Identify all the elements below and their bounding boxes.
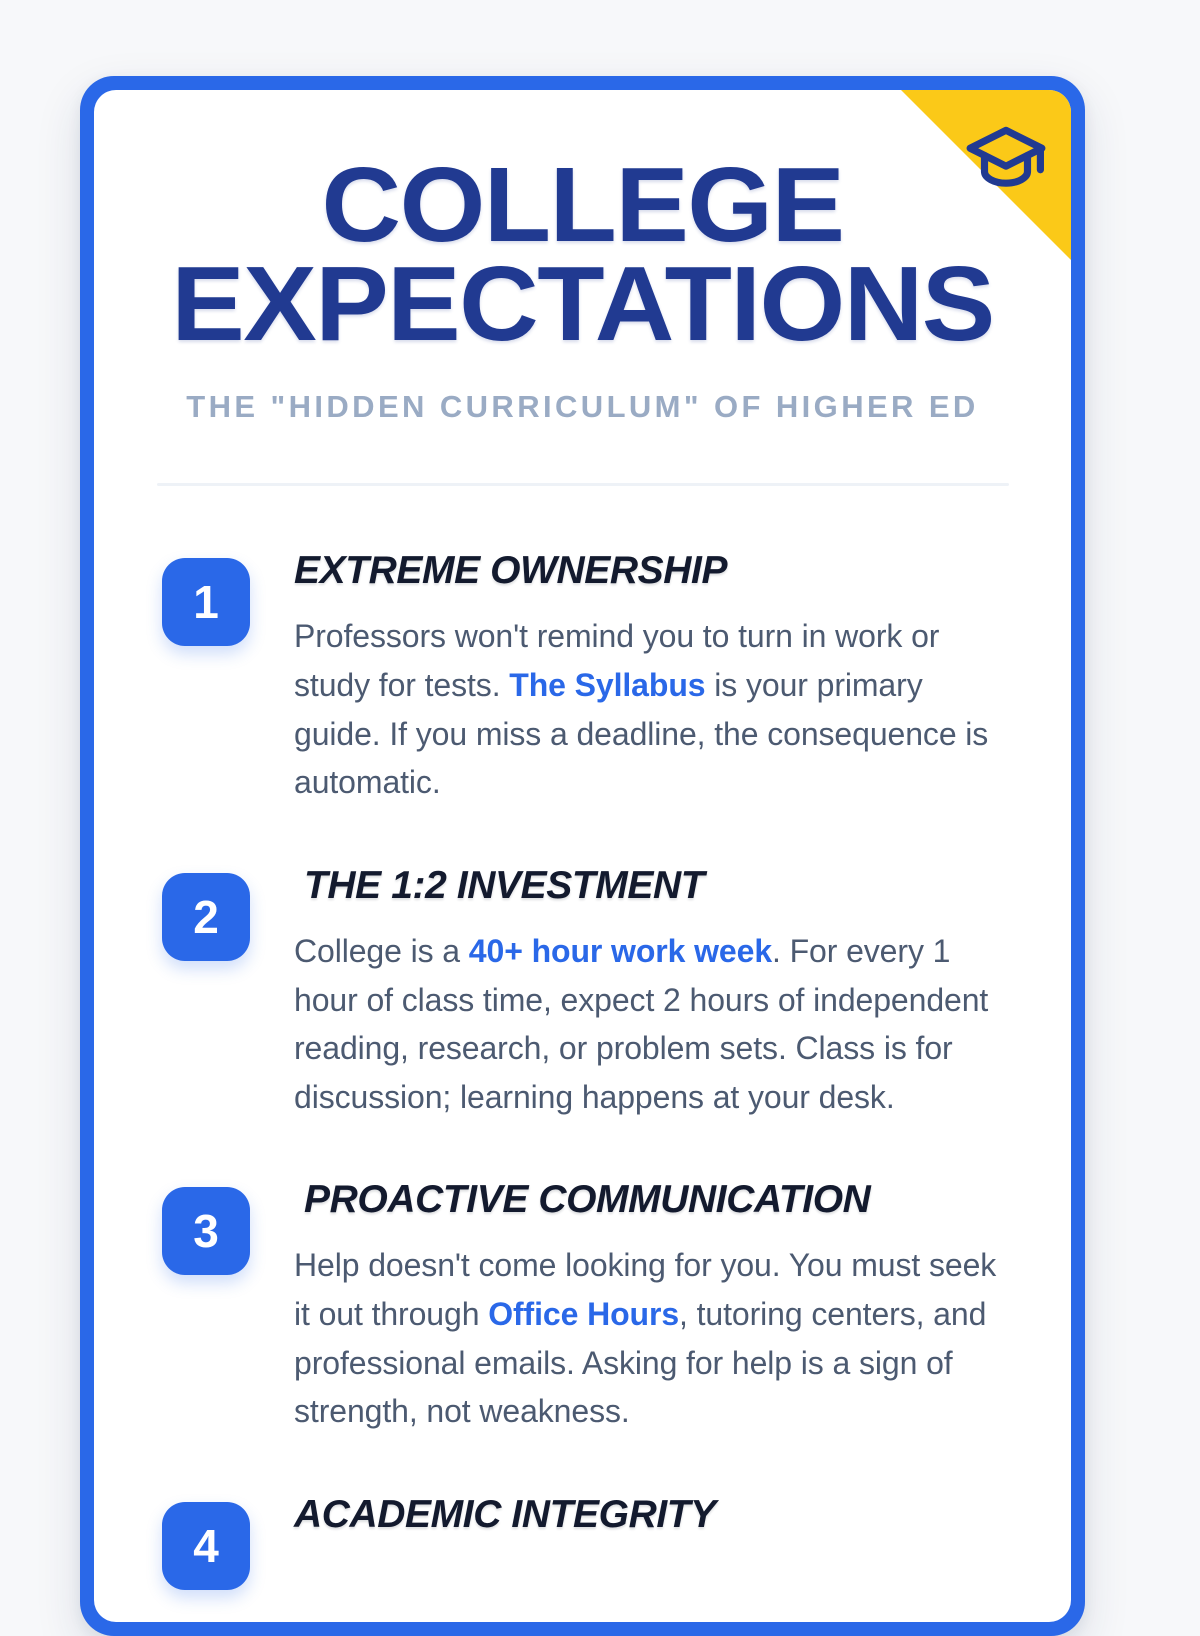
item-body: ACADEMIC INTEGRITY <box>250 1494 1009 1556</box>
highlighted-term: The Syllabus <box>509 667 705 703</box>
list-item: 3 PROACTIVE COMMUNICATION Help doesn't c… <box>94 1179 1071 1436</box>
item-title: PROACTIVE COMMUNICATION <box>294 1179 1009 1221</box>
item-text: Professors won't remind you to turn in w… <box>294 612 1009 807</box>
card-inner-surface: COLLEGE EXPECTATIONS THE "HIDDEN CURRICU… <box>94 90 1071 1622</box>
list-item: 2 THE 1:2 INVESTMENT College is a 40+ ho… <box>94 865 1071 1122</box>
item-body: PROACTIVE COMMUNICATION Help doesn't com… <box>250 1179 1009 1436</box>
item-body: EXTREME OWNERSHIP Professors won't remin… <box>250 550 1009 807</box>
item-title: ACADEMIC INTEGRITY <box>294 1494 1009 1536</box>
item-number-badge: 4 <box>162 1502 250 1590</box>
item-text: College is a 40+ hour work week. For eve… <box>294 927 1009 1122</box>
item-text: Help doesn't come looking for you. You m… <box>294 1241 1009 1436</box>
page-title: COLLEGE EXPECTATIONS <box>135 156 1030 353</box>
highlighted-term: 40+ hour work week <box>469 933 772 969</box>
item-number-badge: 1 <box>162 558 250 646</box>
item-body: THE 1:2 INVESTMENT College is a 40+ hour… <box>250 865 1009 1122</box>
item-title: EXTREME OWNERSHIP <box>294 550 1009 592</box>
expectations-list: 1 EXTREME OWNERSHIP Professors won't rem… <box>94 486 1071 1590</box>
highlighted-term: Office Hours <box>488 1296 679 1332</box>
header: COLLEGE EXPECTATIONS THE "HIDDEN CURRICU… <box>94 90 1071 486</box>
item-number-badge: 3 <box>162 1187 250 1275</box>
list-item: 4 ACADEMIC INTEGRITY <box>94 1494 1071 1590</box>
list-item: 1 EXTREME OWNERSHIP Professors won't rem… <box>94 550 1071 807</box>
item-number-badge: 2 <box>162 873 250 961</box>
infographic-card: COLLEGE EXPECTATIONS THE "HIDDEN CURRICU… <box>80 76 1085 1636</box>
item-title: THE 1:2 INVESTMENT <box>294 865 1009 907</box>
page-subtitle: THE "HIDDEN CURRICULUM" OF HIGHER ED <box>152 389 1013 425</box>
